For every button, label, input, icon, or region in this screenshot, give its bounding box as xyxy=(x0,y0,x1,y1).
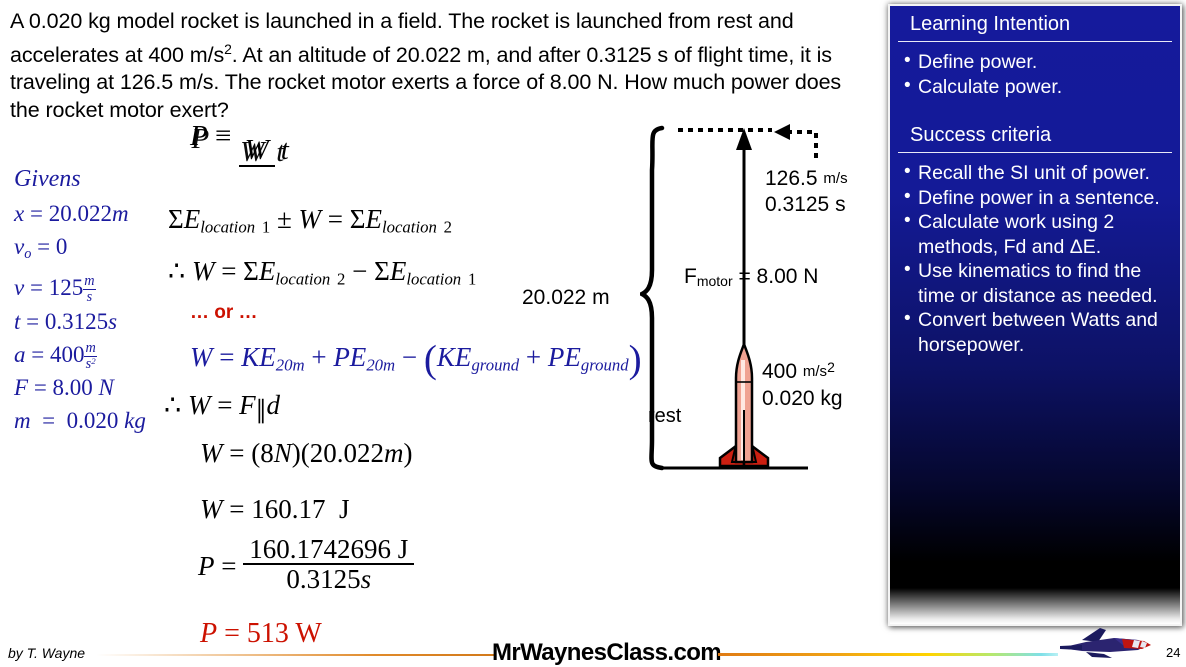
given-t: t = 0.3125s xyxy=(14,305,184,338)
problem-statement: A 0.020 kg model rocket is launched in a… xyxy=(10,8,870,124)
given-m: m = 0.020 kg xyxy=(14,404,184,437)
byline: by T. Wayne xyxy=(8,645,85,661)
problem-text: A 0.020 kg model rocket is launched in a… xyxy=(10,9,841,122)
rest-label: rest xyxy=(648,405,681,428)
equation-energy-balance: ΣElocation 1 ± W = ΣElocation 2 xyxy=(168,204,452,238)
equation-work-force-distance: ∴ W = F∥d xyxy=(164,390,280,423)
site-name[interactable]: MrWaynesClass.com xyxy=(492,639,721,667)
height-label: 20.022 m xyxy=(522,286,610,310)
list-item: Use kinematics to find the time or dista… xyxy=(904,259,1170,308)
objectives-panel: Learning Intention Define power. Calcula… xyxy=(888,4,1182,626)
givens-title: Givens xyxy=(14,166,184,193)
panel-bottom-fade xyxy=(890,588,1180,624)
equation-power-substituted: P = 160.1742696 J0.3125s xyxy=(198,535,414,593)
learning-intention-list: Define power. Calculate power. xyxy=(890,50,1180,99)
rocket-graphic xyxy=(720,344,768,466)
rocket-diagram: 126.5 m/s 0.3125 s Fmotor = 8.00 N 400 m… xyxy=(640,110,885,480)
equation-work-from-energy: ∴ W = ΣElocation 2 − ΣElocation 1 xyxy=(168,256,476,290)
velocity-label: 126.5 m/s xyxy=(765,167,848,191)
learning-intention-title: Learning Intention xyxy=(898,6,1172,42)
final-answer: P = 513 W xyxy=(200,618,322,650)
page-number: 24 xyxy=(1166,645,1180,660)
given-x: x = 20.022m xyxy=(14,197,184,230)
success-criteria-list: Recall the SI unit of power. Define powe… xyxy=(890,161,1180,357)
list-item: Define power in a sentence. xyxy=(904,186,1170,211)
given-v0: vo = 0 xyxy=(14,230,184,271)
list-item: Calculate work using 2 methods, Fd and Δ… xyxy=(904,210,1170,259)
given-a: a = 400ms2 xyxy=(14,338,184,372)
success-criteria-title: Success criteria xyxy=(898,117,1172,153)
time-label: 0.3125 s xyxy=(765,193,846,217)
equation-work-substituted: W = (8N)(20.022m) xyxy=(200,438,412,469)
footer-rule-right xyxy=(718,653,1058,656)
list-item: Recall the SI unit of power. xyxy=(904,161,1170,186)
jet-logo-icon xyxy=(1052,624,1164,664)
equation-power-definition: P ≡ Wt xyxy=(190,120,295,167)
equation-work-result: W = 160.17 J xyxy=(200,494,349,525)
given-F: F = 8.00 N xyxy=(14,371,184,404)
equation-work-energy-expanded: W = KE20m + PE20m − (KEground + PEground… xyxy=(190,337,642,382)
callout-dotted-line xyxy=(788,132,816,158)
callout-arrow-head xyxy=(774,124,790,140)
slide-root: A 0.020 kg model rocket is launched in a… xyxy=(0,0,1186,667)
given-v: v = 125ms xyxy=(14,271,184,305)
force-label: Fmotor = 8.00 N xyxy=(684,265,818,289)
givens-block: Givens x = 20.022m vo = 0 v = 125ms t = … xyxy=(14,166,184,437)
list-item: Calculate power. xyxy=(904,75,1170,100)
or-separator: … or … xyxy=(190,302,258,324)
footer-rule-left xyxy=(96,654,496,656)
acceleration-label: 400 m/s2 xyxy=(762,359,835,384)
mass-label: 0.020 kg xyxy=(762,387,843,411)
list-item: Convert between Watts and horsepower. xyxy=(904,308,1170,357)
list-item: Define power. xyxy=(904,50,1170,75)
